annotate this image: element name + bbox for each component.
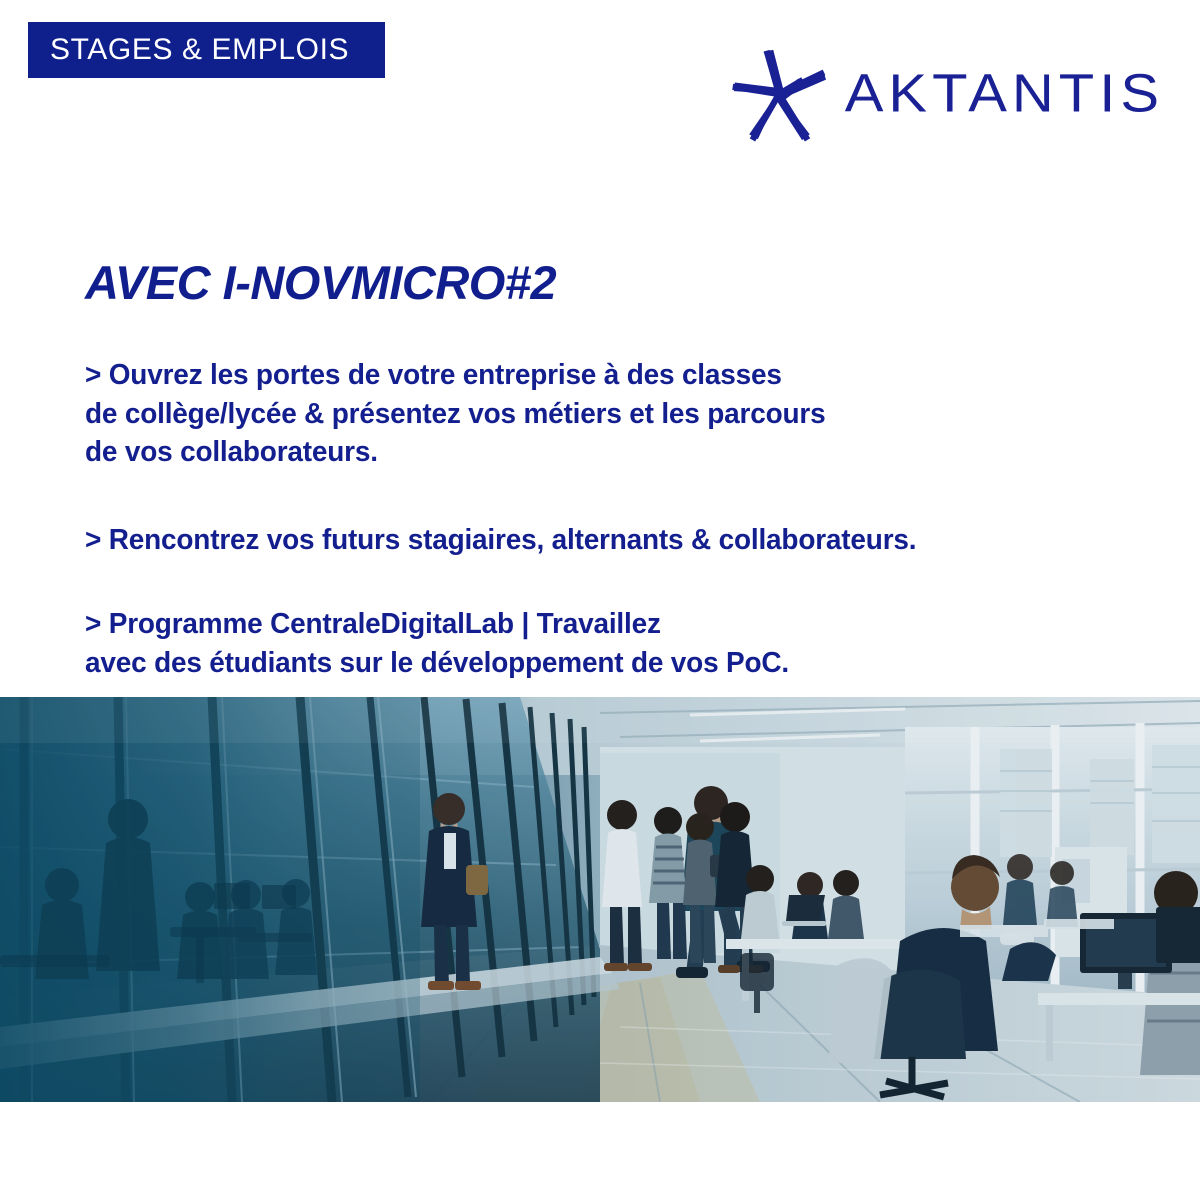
benefit-3-line-1: > Programme CentraleDigitalLab | Travail… (85, 605, 1122, 644)
aktantis-logo: AKTANTIS (731, 46, 1164, 142)
benefit-3-line-2: avec des étudiants sur le développement … (85, 644, 1122, 683)
benefit-item-3: > Programme CentraleDigitalLab | Travail… (85, 605, 1122, 682)
aktantis-wordmark: AKTANTIS (845, 67, 1164, 120)
spacer-1 (85, 472, 1160, 521)
benefit-1-line-3: de vos collaborateurs. (85, 433, 1122, 472)
spacer-2 (85, 559, 1160, 605)
office-photo (0, 697, 1200, 1102)
stages-emplois-badge: STAGES & EMPLOIS (28, 22, 385, 78)
benefit-item-1: > Ouvrez les portes de votre entreprise … (85, 356, 1122, 472)
page-title: AVEC I-NOVMICRO#2 (85, 258, 556, 307)
benefit-2-line-1: > Rencontrez vos futurs stagiaires, alte… (85, 521, 1122, 560)
benefits-list: > Ouvrez les portes de votre entreprise … (85, 356, 1160, 682)
badge-label: STAGES & EMPLOIS (50, 35, 349, 65)
poster-canvas: STAGES & EMPLOIS (0, 0, 1200, 1200)
benefit-1-line-2: de collège/lycée & présentez vos métiers… (85, 395, 1122, 434)
benefit-1-line-1: > Ouvrez les portes de votre entreprise … (85, 356, 1122, 395)
aktantis-star-icon (731, 46, 827, 142)
benefit-item-2: > Rencontrez vos futurs stagiaires, alte… (85, 521, 1122, 560)
